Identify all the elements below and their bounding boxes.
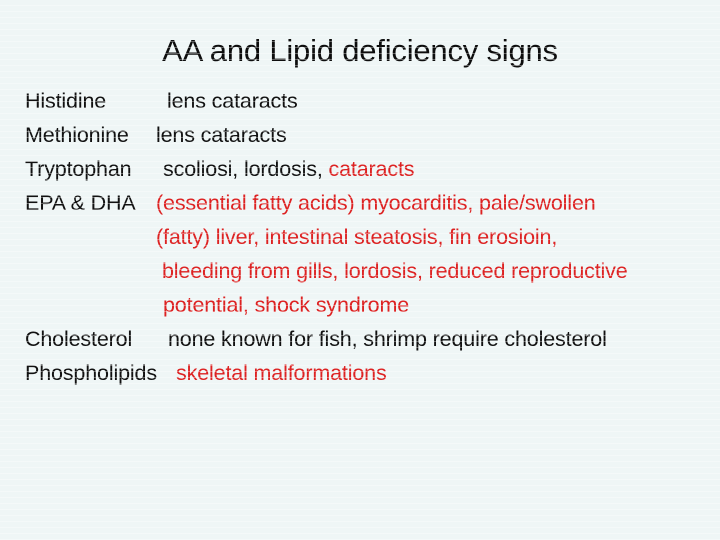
sign-text-methionine: lens cataracts xyxy=(156,123,287,147)
nutrient-label-cholesterol: Cholesterol xyxy=(25,322,168,356)
list-item: Methioninelens cataracts xyxy=(25,118,715,152)
sign-text-epa-dha-cont-2: bleeding from gills, lordosis, reduced r… xyxy=(162,259,628,283)
sign-text-cholesterol: none known for fish, shrimp require chol… xyxy=(168,327,607,351)
list-item: Histidinelens cataracts xyxy=(25,84,715,118)
nutrient-label-histidine: Histidine xyxy=(25,84,167,118)
sign-text-phospholipids-red: skeletal malformations xyxy=(176,361,387,385)
list-item-continuation: potential, shock syndrome xyxy=(25,288,715,322)
list-item: Cholesterolnone known for fish, shrimp r… xyxy=(25,322,715,356)
list-item: Phospholipidsskeletal malformations xyxy=(25,356,715,390)
list-item-continuation: (fatty) liver, intestinal steatosis, fin… xyxy=(25,220,715,254)
sign-text-tryptophan-red: cataracts xyxy=(328,157,414,181)
nutrient-label-methionine: Methionine xyxy=(25,118,156,152)
page-title: AA and Lipid deficiency signs xyxy=(0,33,720,69)
deficiency-sign-list: Histidinelens cataracts Methioninelens c… xyxy=(25,84,715,390)
nutrient-label-tryptophan: Tryptophan xyxy=(25,152,163,186)
nutrient-label-phospholipids: Phospholipids xyxy=(25,356,176,390)
list-item: Tryptophanscoliosi, lordosis, cataracts xyxy=(25,152,715,186)
nutrient-label-epa-dha: EPA & DHA xyxy=(25,186,156,220)
sign-text-epa-dha-cont-1: (fatty) liver, intestinal steatosis, fin… xyxy=(156,225,557,249)
sign-text-histidine: lens cataracts xyxy=(167,89,298,113)
sign-text-epa-dha-red: (essential fatty acids) myocarditis, pal… xyxy=(156,191,596,215)
sign-text-epa-dha-cont-3: potential, shock syndrome xyxy=(163,293,409,317)
slide-canvas: AA and Lipid deficiency signs Histidinel… xyxy=(0,0,720,540)
list-item: EPA & DHA(essential fatty acids) myocard… xyxy=(25,186,715,220)
sign-text-tryptophan-black: scoliosi, lordosis, xyxy=(163,157,328,181)
list-item-continuation: bleeding from gills, lordosis, reduced r… xyxy=(25,254,715,288)
